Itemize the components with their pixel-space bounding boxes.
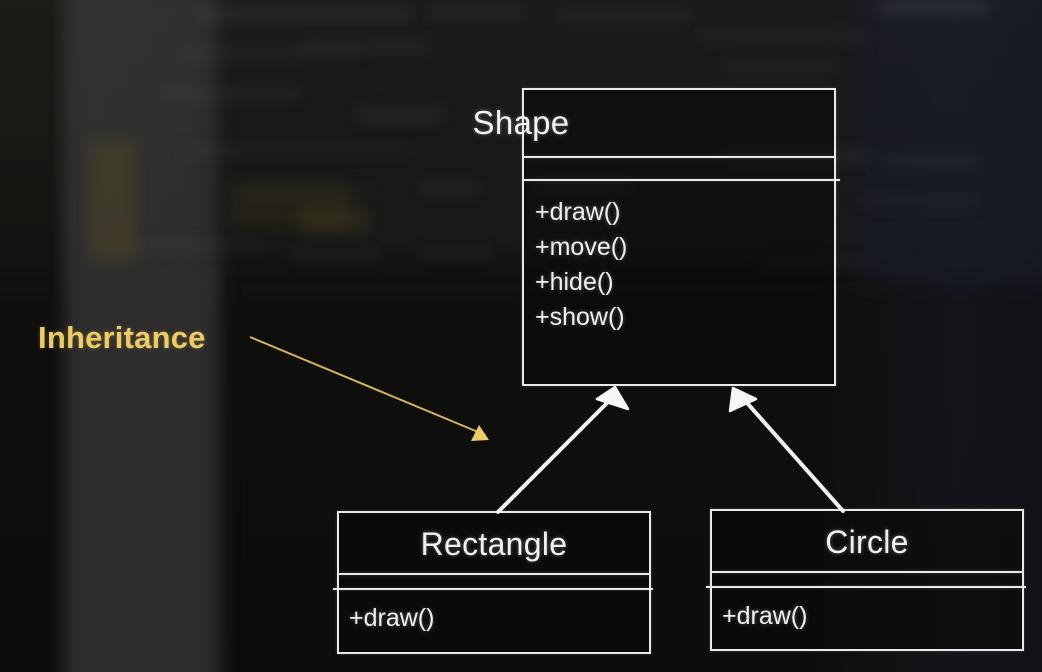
bg-text-ghost [180, 145, 410, 156]
bg-accent-ghost [230, 182, 350, 227]
bg-text-ghost [560, 10, 690, 20]
bg-text-ghost [125, 240, 265, 252]
uml-class-rectangle-title: Rectangle [337, 526, 651, 563]
uml-class-rectangle-divider-bottom [333, 588, 653, 590]
bg-accent-ghost [90, 140, 135, 260]
uml-class-circle-divider-bottom [706, 586, 1026, 588]
bg-text-ghost [245, 185, 375, 196]
uml-method-item: +hide() [535, 268, 614, 297]
inheritance-annotation-label: Inheritance [38, 320, 206, 356]
bg-text-ghost [860, 196, 980, 207]
bg-text-ghost [290, 252, 380, 263]
bg-text-ghost [420, 182, 480, 195]
bg-text-ghost [200, 8, 410, 20]
bg-text-ghost [420, 248, 490, 260]
bg-text-ghost [430, 6, 520, 18]
bg-text-ghost [300, 40, 430, 52]
bg-text-ghost [180, 48, 360, 58]
uml-class-shape-divider-top [524, 156, 834, 158]
bg-accent-ghost [300, 205, 370, 235]
uml-class-shape-title: Shape [0, 104, 1042, 142]
uml-method-item: +move() [535, 233, 627, 262]
uml-class-circle-title: Circle [710, 524, 1024, 561]
diagram-canvas: Shape +draw() +move() +hide() +show() Re… [0, 0, 1042, 672]
bg-text-ghost [880, 0, 990, 14]
uml-method-item: +show() [535, 303, 625, 332]
uml-method-item: +draw() [349, 604, 434, 633]
uml-method-item: +draw() [535, 198, 620, 227]
uml-class-circle-divider-top [712, 571, 1022, 573]
bg-text-ghost [700, 30, 870, 42]
bg-text-ghost [880, 155, 980, 167]
bg-text-ghost [720, 60, 840, 72]
uml-method-item: +draw() [722, 602, 807, 631]
uml-class-shape-divider-bottom [524, 179, 840, 181]
bg-text-ghost [160, 88, 300, 100]
uml-class-rectangle-divider-top [339, 573, 649, 575]
